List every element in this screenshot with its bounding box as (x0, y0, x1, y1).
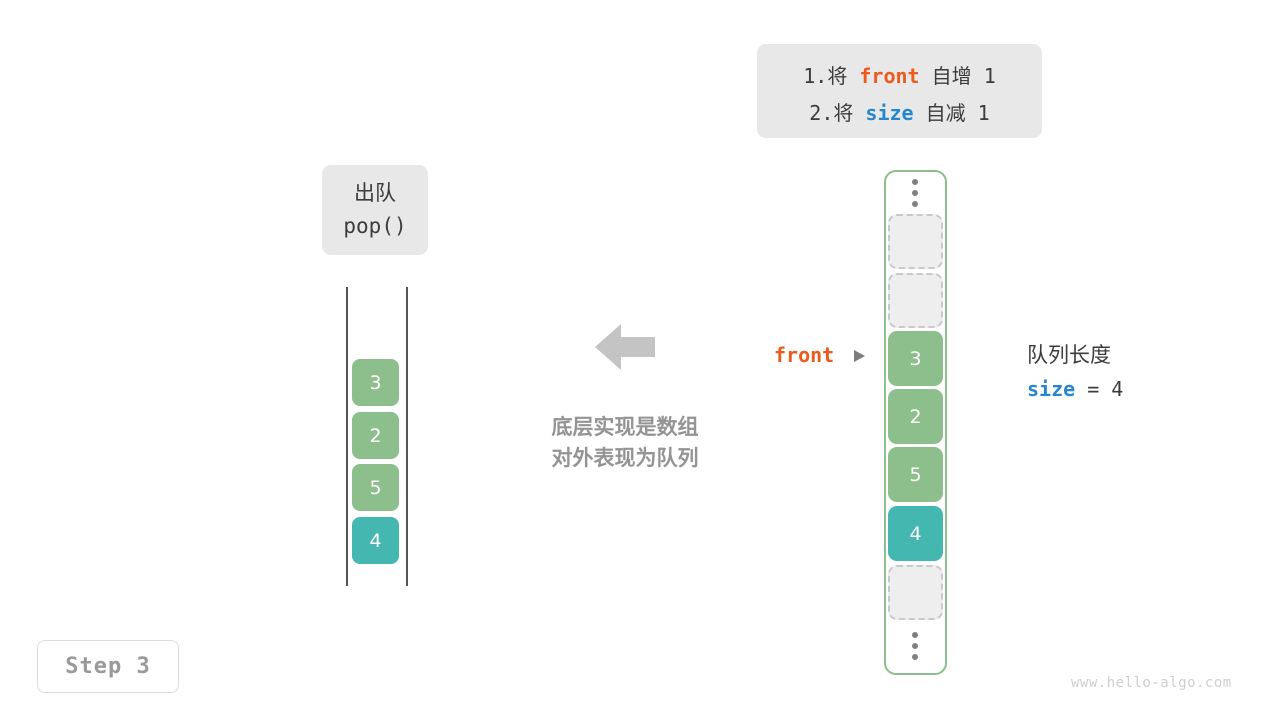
note-line-1: 1.将 front 自增 1 (757, 58, 1042, 95)
front-pointer-label: front (774, 343, 834, 367)
note-2-suffix: 自减 1 (914, 101, 990, 125)
center-caption: 底层实现是数组 对外表现为队列 (506, 412, 744, 474)
diagram-canvas: 1.将 front 自增 1 2.将 size 自减 1 出队 pop() 3 … (0, 0, 1280, 720)
array-slot (888, 565, 943, 620)
watermark: www.hello-algo.com (1071, 675, 1232, 691)
queue-rail-right (406, 287, 408, 586)
operation-note-box: 1.将 front 自增 1 2.将 size 自减 1 (757, 44, 1042, 138)
operation-label-box: 出队 pop() (322, 165, 428, 255)
queue-cell: 5 (352, 464, 399, 511)
queue-size-title: 队列长度 (1027, 340, 1123, 371)
queue-cell: 3 (352, 359, 399, 406)
size-value: 4 (1111, 377, 1123, 401)
caption-line-2: 对外表现为队列 (506, 443, 744, 474)
note-1-keyword: front (859, 64, 919, 88)
queue-cell: 4 (352, 517, 399, 564)
operation-code: pop() (322, 210, 428, 243)
operation-title: 出队 (322, 177, 428, 210)
note-2-prefix: 将 (833, 101, 865, 125)
array-top-ellipsis-icon (908, 179, 922, 207)
queue-cell: 2 (352, 412, 399, 459)
array-slot: 3 (888, 331, 943, 386)
array-slot (888, 273, 943, 328)
array-slot: 4 (888, 506, 943, 561)
array-bottom-ellipsis-icon (908, 632, 922, 660)
front-pointer-arrow-icon (854, 350, 865, 362)
left-arrow-icon (595, 322, 655, 372)
step-badge: Step 3 (37, 640, 179, 693)
note-1-prefix: 将 (827, 64, 859, 88)
note-1-number: 1. (803, 64, 827, 88)
note-2-number: 2. (809, 101, 833, 125)
array-slot: 5 (888, 447, 943, 502)
size-equals: = (1075, 377, 1111, 401)
note-1-suffix: 自增 1 (920, 64, 996, 88)
note-2-keyword: size (865, 101, 913, 125)
size-variable: size (1027, 377, 1075, 401)
queue-rail-left (346, 287, 348, 586)
array-slot (888, 214, 943, 269)
array-slot: 2 (888, 389, 943, 444)
queue-size-info: 队列长度 size = 4 (1027, 340, 1123, 407)
note-line-2: 2.将 size 自减 1 (757, 95, 1042, 132)
caption-line-1: 底层实现是数组 (506, 412, 744, 443)
queue-size-expression: size = 4 (1027, 371, 1123, 407)
